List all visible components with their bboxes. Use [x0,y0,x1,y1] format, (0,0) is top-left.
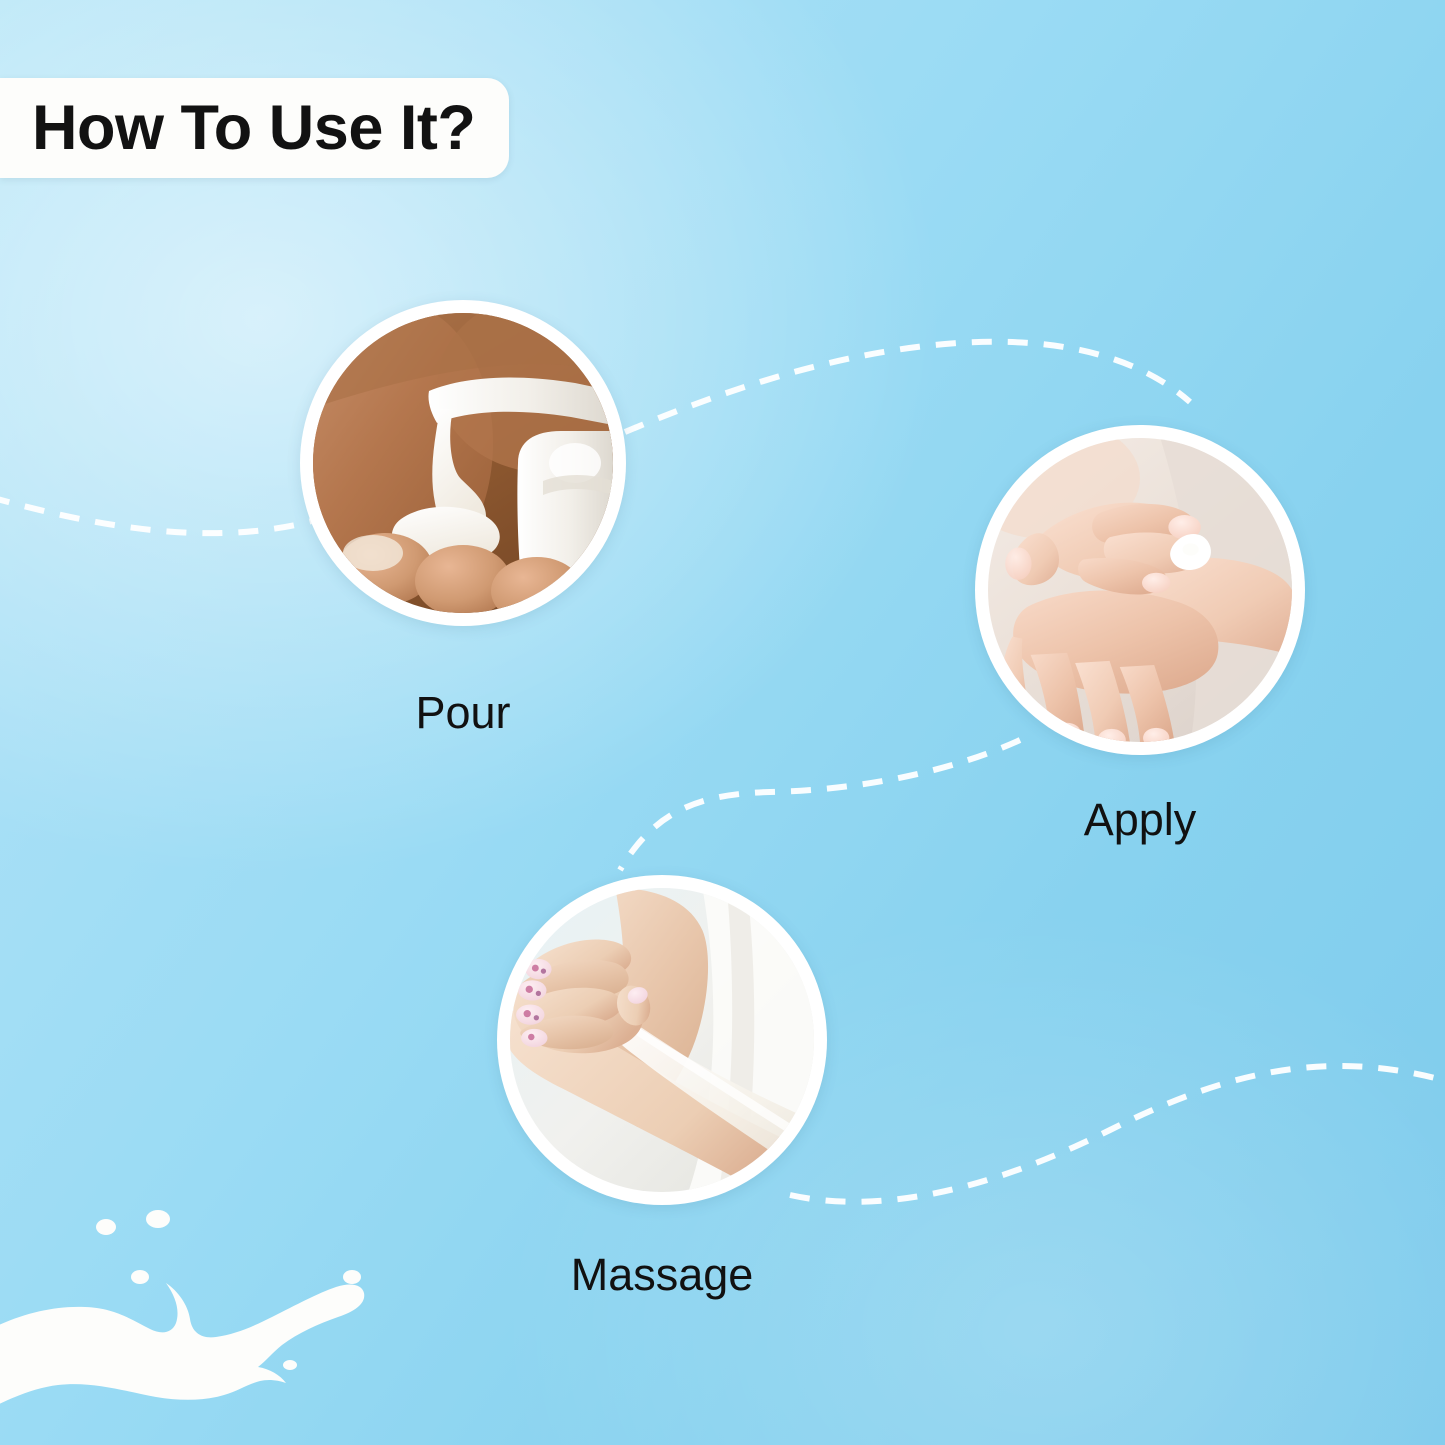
dashed-connector-line [620,740,1020,870]
step-apply: Apply [975,425,1305,755]
dashed-connector-line [790,1066,1445,1202]
step-pour-photo [313,313,613,613]
how-to-use-poster: How To Use It? [0,0,1445,1445]
step-pour-label: Pour [300,690,626,735]
page-title-badge: How To Use It? [0,78,509,178]
step-massage-photo [510,888,814,1192]
dashed-connector-line [625,342,1190,432]
pour-lotion-image [313,313,613,613]
massage-arm-image [510,888,814,1192]
step-massage-photo-frame [497,875,827,1205]
page-title: How To Use It? [32,97,475,160]
step-apply-label: Apply [975,797,1305,842]
step-pour-photo-frame [300,300,626,626]
apply-cream-image [988,438,1292,742]
step-apply-photo [988,438,1292,742]
step-apply-photo-frame [975,425,1305,755]
milk-splash-icon [0,1205,400,1445]
step-massage: Massage [497,875,827,1205]
step-pour: Pour [300,300,626,626]
step-massage-label: Massage [497,1252,827,1297]
